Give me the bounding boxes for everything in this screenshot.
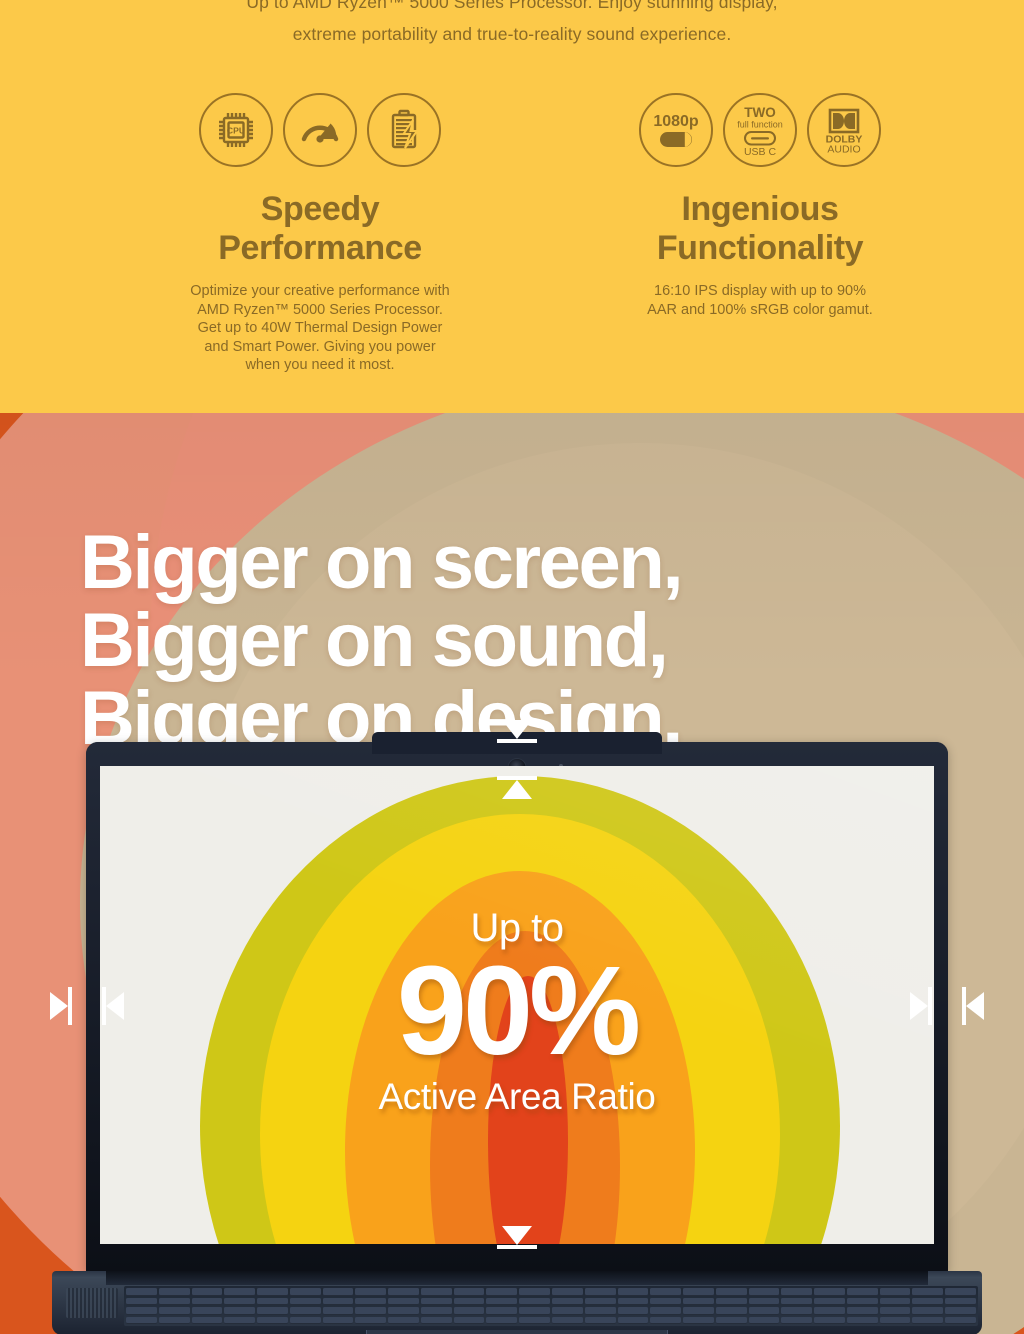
key xyxy=(650,1288,681,1296)
key xyxy=(486,1307,517,1315)
triangle-left-icon xyxy=(106,992,124,1020)
feature-panel: Up to AMD Ryzen™ 5000 Series Processor. … xyxy=(0,0,1024,413)
key xyxy=(323,1317,354,1325)
laptop-touchpad xyxy=(366,1330,668,1334)
key xyxy=(912,1317,943,1325)
key xyxy=(847,1288,878,1296)
key xyxy=(880,1288,911,1296)
key xyxy=(650,1317,681,1325)
key xyxy=(126,1298,157,1306)
feature-desc-line-2: AMD Ryzen™ 5000 Series Processor. xyxy=(90,301,550,320)
key xyxy=(847,1298,878,1306)
key xyxy=(945,1298,976,1306)
left-outer-marker xyxy=(50,987,72,1025)
key xyxy=(323,1288,354,1296)
key xyxy=(945,1288,976,1296)
feature-description-ingenious-functionality: 16:10 IPS display with up to 90% AAR and… xyxy=(540,282,980,319)
cpu-icon: CPU xyxy=(199,93,273,167)
audio-label: AUDIO xyxy=(827,144,860,155)
key xyxy=(847,1317,878,1325)
key xyxy=(683,1288,714,1296)
key xyxy=(224,1298,255,1306)
key xyxy=(421,1317,452,1325)
top-inner-marker xyxy=(497,776,537,799)
webcam-1080p-icon: 1080p xyxy=(639,93,713,167)
key xyxy=(781,1288,812,1296)
key xyxy=(716,1288,747,1296)
key xyxy=(618,1298,649,1306)
headline-line-2: Bigger on sound, xyxy=(80,602,1000,680)
key xyxy=(781,1307,812,1315)
key xyxy=(880,1298,911,1306)
key xyxy=(224,1307,255,1315)
key xyxy=(388,1298,419,1306)
key xyxy=(814,1307,845,1315)
feature-desc-line-2: AAR and 100% sRGB color gamut. xyxy=(540,301,980,320)
marker-bar-icon xyxy=(68,987,72,1025)
key xyxy=(257,1307,288,1315)
screen-aar-value: 90% xyxy=(100,948,934,1074)
usb-c-label-two: TWO xyxy=(744,105,776,120)
laptop-vent-left xyxy=(66,1288,118,1318)
feature-title-ingenious-functionality: Ingenious Functionality xyxy=(540,190,980,268)
screen-overlay-copy: Up to 90% Active Area Ratio xyxy=(100,906,934,1118)
triangle-right-icon xyxy=(910,992,928,1020)
key xyxy=(454,1317,485,1325)
feature-title-line-1: Ingenious xyxy=(540,190,980,229)
key xyxy=(519,1288,550,1296)
triangle-down-icon xyxy=(502,1226,532,1245)
key xyxy=(486,1317,517,1325)
intro-line-1: Up to AMD Ryzen™ 5000 Series Processor. … xyxy=(0,0,1024,18)
key xyxy=(290,1298,321,1306)
key xyxy=(650,1298,681,1306)
key xyxy=(421,1298,452,1306)
keyboard-row xyxy=(126,1317,976,1325)
key xyxy=(618,1317,649,1325)
key xyxy=(454,1288,485,1296)
key xyxy=(126,1288,157,1296)
key xyxy=(159,1298,190,1306)
feature-desc-line-5: when you need it most. xyxy=(90,356,550,375)
svg-text:CPU: CPU xyxy=(227,126,245,136)
key xyxy=(585,1288,616,1296)
key xyxy=(224,1288,255,1296)
key xyxy=(519,1298,550,1306)
key xyxy=(290,1307,321,1315)
key xyxy=(388,1317,419,1325)
headline-line-1: Bigger on screen, xyxy=(80,524,1000,602)
key xyxy=(421,1288,452,1296)
key xyxy=(519,1307,550,1315)
key xyxy=(552,1307,583,1315)
key xyxy=(585,1307,616,1315)
key xyxy=(880,1307,911,1315)
key xyxy=(519,1317,550,1325)
key xyxy=(290,1288,321,1296)
key xyxy=(880,1317,911,1325)
key xyxy=(912,1288,943,1296)
battery-bolt-icon xyxy=(367,93,441,167)
key xyxy=(749,1288,780,1296)
product-marketing-page: Up to AMD Ryzen™ 5000 Series Processor. … xyxy=(0,0,1024,1334)
key xyxy=(355,1307,386,1315)
feature-desc-line-4: and Smart Power. Giving you power xyxy=(90,338,550,357)
dolby-audio-icon: DOLBY AUDIO xyxy=(807,93,881,167)
key xyxy=(552,1288,583,1296)
triangle-down-icon xyxy=(502,720,532,739)
feature-icon-row: 1080p TWO full function USB C xyxy=(540,85,980,175)
keyboard-row xyxy=(126,1298,976,1306)
key xyxy=(781,1317,812,1325)
key xyxy=(945,1307,976,1315)
laptop-hinge xyxy=(106,1271,928,1285)
marker-bar-icon xyxy=(497,1245,537,1249)
key xyxy=(749,1307,780,1315)
feature-desc-line-1: 16:10 IPS display with up to 90% xyxy=(540,282,980,301)
keyboard-row xyxy=(126,1288,976,1296)
hero-headline: Bigger on screen, Bigger on sound, Bigge… xyxy=(80,524,1000,758)
key xyxy=(847,1307,878,1315)
key xyxy=(388,1307,419,1315)
marker-bar-icon xyxy=(928,987,932,1025)
key xyxy=(159,1288,190,1296)
key xyxy=(192,1298,223,1306)
key xyxy=(814,1288,845,1296)
keyboard-row xyxy=(126,1307,976,1315)
marker-bar-icon xyxy=(497,739,537,743)
key xyxy=(355,1317,386,1325)
usb-c-two-full-function-icon: TWO full function USB C xyxy=(723,93,797,167)
feature-column-speedy-performance: CPU xyxy=(90,85,550,375)
feature-icon-row: CPU xyxy=(90,85,550,175)
screen-aar-caption: Active Area Ratio xyxy=(100,1076,934,1118)
key xyxy=(683,1317,714,1325)
key xyxy=(454,1298,485,1306)
top-outer-marker xyxy=(497,720,537,743)
laptop-lid: Up to 90% Active Area Ratio xyxy=(86,742,948,1272)
usb-c-label-usbc: USB C xyxy=(744,146,777,157)
key xyxy=(781,1298,812,1306)
key xyxy=(355,1298,386,1306)
key xyxy=(126,1317,157,1325)
key xyxy=(355,1288,386,1296)
triangle-left-icon xyxy=(966,992,984,1020)
key xyxy=(912,1298,943,1306)
key xyxy=(126,1307,157,1315)
bottom-inner-marker xyxy=(497,1226,537,1249)
key xyxy=(486,1298,517,1306)
key xyxy=(552,1298,583,1306)
key xyxy=(257,1298,288,1306)
intro-line-2: extreme portability and true-to-reality … xyxy=(0,18,1024,50)
key xyxy=(323,1298,354,1306)
key xyxy=(945,1317,976,1325)
key xyxy=(716,1298,747,1306)
right-inner-marker xyxy=(910,987,932,1025)
key xyxy=(257,1317,288,1325)
key xyxy=(912,1307,943,1315)
usb-c-label-full-function: full function xyxy=(737,120,783,130)
key xyxy=(486,1288,517,1296)
laptop-keyboard xyxy=(124,1286,978,1326)
key xyxy=(192,1307,223,1315)
triangle-up-icon xyxy=(502,780,532,799)
key xyxy=(716,1317,747,1325)
feature-desc-line-1: Optimize your creative performance with xyxy=(90,282,550,301)
key xyxy=(683,1298,714,1306)
key xyxy=(585,1298,616,1306)
key xyxy=(323,1307,354,1315)
feature-title-line-1: Speedy xyxy=(90,190,550,229)
feature-title-line-2: Performance xyxy=(90,229,550,268)
key xyxy=(749,1317,780,1325)
laptop-screen: Up to 90% Active Area Ratio xyxy=(100,766,934,1244)
key xyxy=(618,1307,649,1315)
left-inner-marker xyxy=(102,987,124,1025)
key xyxy=(257,1288,288,1296)
key xyxy=(552,1317,583,1325)
key xyxy=(421,1307,452,1315)
key xyxy=(814,1317,845,1325)
key xyxy=(716,1307,747,1315)
key xyxy=(159,1317,190,1325)
key xyxy=(814,1298,845,1306)
triangle-right-icon xyxy=(50,992,68,1020)
feature-title-speedy-performance: Speedy Performance xyxy=(90,190,550,268)
feature-desc-line-3: Get up to 40W Thermal Design Power xyxy=(90,319,550,338)
key xyxy=(224,1317,255,1325)
key xyxy=(618,1288,649,1296)
key xyxy=(749,1298,780,1306)
laptop-product-photo: Up to 90% Active Area Ratio xyxy=(86,742,948,1334)
key xyxy=(159,1307,190,1315)
key xyxy=(388,1288,419,1296)
feature-column-ingenious-functionality: 1080p TWO full function USB C xyxy=(540,85,980,319)
feature-description-speedy-performance: Optimize your creative performance with … xyxy=(90,282,550,375)
intro-copy: Up to AMD Ryzen™ 5000 Series Processor. … xyxy=(0,0,1024,50)
key xyxy=(192,1288,223,1296)
feature-title-line-2: Functionality xyxy=(540,229,980,268)
key xyxy=(192,1317,223,1325)
key xyxy=(585,1317,616,1325)
key xyxy=(683,1307,714,1315)
key xyxy=(290,1317,321,1325)
right-outer-marker xyxy=(962,987,984,1025)
key xyxy=(650,1307,681,1315)
speedometer-icon xyxy=(283,93,357,167)
webcam-1080p-label: 1080p xyxy=(653,113,699,130)
key xyxy=(454,1307,485,1315)
